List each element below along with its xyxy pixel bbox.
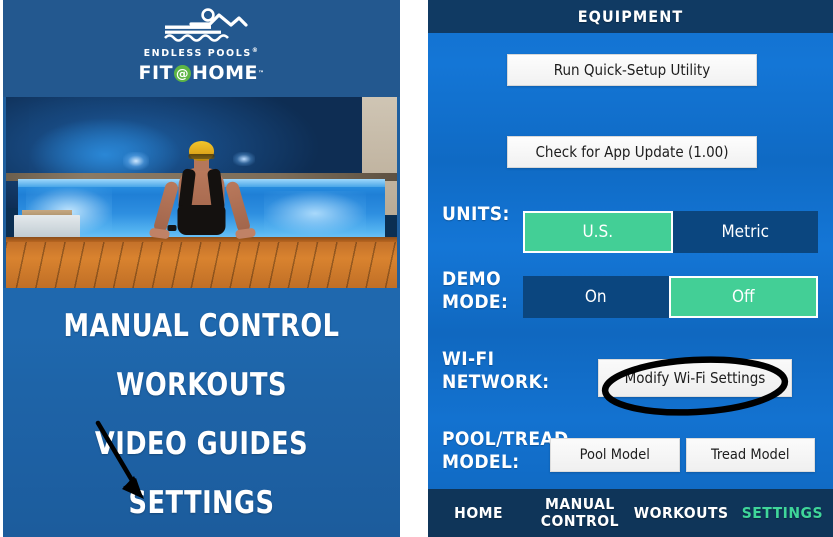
modify-wifi-settings-button[interactable]: Modify Wi-Fi Settings: [598, 359, 792, 397]
units-option-metric[interactable]: Metric: [673, 211, 819, 253]
model-label-line2: MODEL:: [442, 451, 552, 474]
wifi-label-line1: WI-FI: [442, 348, 552, 371]
menu-item-workouts[interactable]: WORKOUTS: [19, 367, 384, 403]
nav-manual-line1: MANUAL: [529, 496, 630, 513]
logo-home-text: HOME: [192, 62, 258, 84]
hero-photo: [6, 97, 397, 288]
settings-row-wifi-network: WI-FI NETWORK: Modify Wi-Fi Settings: [428, 348, 833, 420]
swimmer-wrist-watch: [168, 225, 177, 231]
nav-item-home[interactable]: HOME: [428, 505, 529, 522]
pool-tread-model-label: POOL/TREAD MODEL:: [442, 428, 552, 474]
settings-row-pool-tread-model: POOL/TREAD MODEL: Pool Model Tread Model: [428, 428, 833, 490]
demo-mode-option-off[interactable]: Off: [669, 276, 819, 318]
pool-tread-model-group[interactable]: Pool Model Tread Model: [550, 438, 815, 472]
logo-at-icon: @: [174, 65, 191, 82]
units-option-us[interactable]: U.S.: [523, 211, 673, 253]
menu-item-settings[interactable]: SETTINGS: [19, 485, 384, 521]
swimmer-right-arm: [225, 180, 252, 234]
menu-item-video-guides[interactable]: VIDEO GUIDES: [19, 426, 384, 462]
swimmer-goggle-strap: [189, 154, 215, 159]
logo-company-text: ENDLESS POOLS: [144, 48, 252, 59]
brand-header: ENDLESS POOLS® FIT @ HOME ™: [3, 0, 400, 97]
right-app-screen: EQUIPMENT Run Quick-Setup Utility Check …: [428, 0, 833, 537]
logo-trademark-mark: ™: [258, 70, 265, 77]
nav-item-settings[interactable]: SETTINGS: [732, 505, 833, 522]
logo-product-name: FIT @ HOME ™: [139, 62, 265, 84]
pool-model-button[interactable]: Pool Model: [550, 438, 680, 472]
wifi-network-label: WI-FI NETWORK:: [442, 348, 552, 394]
settings-row-units: UNITS: U.S. Metric: [428, 203, 833, 265]
photo-water-glow-right: [264, 191, 366, 237]
demo-mode-option-on[interactable]: On: [523, 276, 669, 318]
logo-wrapper: ENDLESS POOLS® FIT @ HOME ™: [3, 8, 400, 84]
nav-item-workouts[interactable]: WORKOUTS: [631, 505, 732, 522]
nav-item-manual-control[interactable]: MANUAL CONTROL: [529, 496, 630, 530]
swimmer-waves-icon: [147, 8, 257, 46]
units-toggle-group[interactable]: U.S. Metric: [523, 211, 818, 253]
photo-swimmer: [154, 141, 249, 271]
home-menu: MANUAL CONTROL WORKOUTS VIDEO GUIDES SET…: [3, 288, 400, 537]
page-title: EQUIPMENT: [428, 0, 833, 33]
swimmer-suit-body: [178, 205, 226, 235]
settings-row-demo-mode: DEMO MODE: On Off: [428, 268, 833, 340]
logo-fit-text: FIT: [139, 62, 174, 84]
screenshot-stage: ENDLESS POOLS® FIT @ HOME ™: [0, 0, 833, 537]
demo-mode-toggle-group[interactable]: On Off: [523, 276, 818, 318]
tread-model-button[interactable]: Tread Model: [686, 438, 816, 472]
photo-wall-glow-left: [123, 152, 149, 170]
menu-item-manual-control[interactable]: MANUAL CONTROL: [19, 308, 384, 344]
wifi-label-line2: NETWORK:: [442, 371, 552, 394]
nav-manual-line2: CONTROL: [529, 513, 630, 530]
left-app-screen: ENDLESS POOLS® FIT @ HOME ™: [3, 0, 400, 537]
logo-company-name: ENDLESS POOLS®: [144, 47, 260, 59]
bottom-navigation-bar: HOME MANUAL CONTROL WORKOUTS SETTINGS: [428, 489, 833, 537]
check-app-update-button[interactable]: Check for App Update (1.00): [507, 136, 757, 168]
logo-registered-mark: ®: [252, 47, 260, 54]
run-quick-setup-button[interactable]: Run Quick-Setup Utility: [507, 54, 757, 86]
model-label-line1: POOL/TREAD: [442, 428, 552, 451]
